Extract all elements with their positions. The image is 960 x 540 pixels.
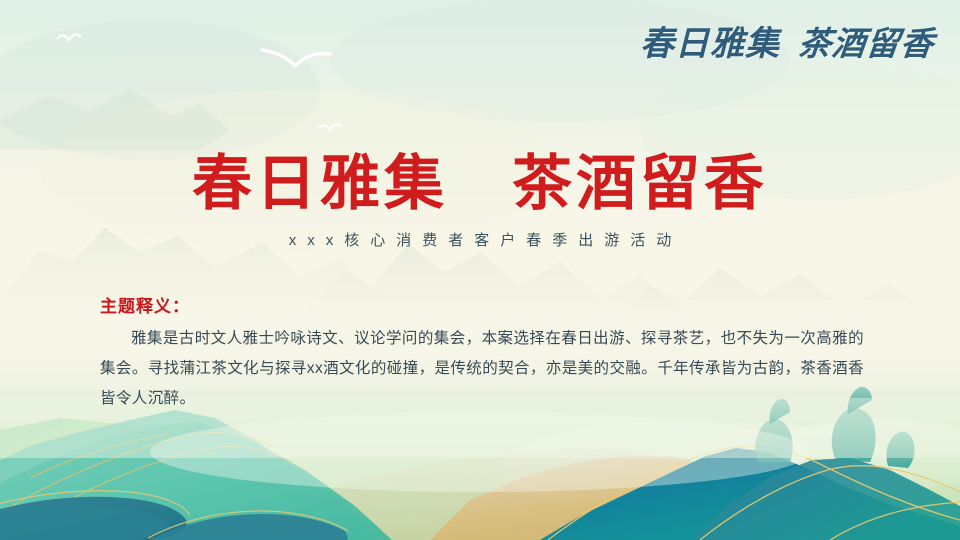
subtitle: xxx核心消费者客户春季出游活动 (0, 229, 960, 250)
logo-text-primary: 春日雅集 (640, 28, 780, 62)
theme-heading: 主题释义： (100, 292, 864, 317)
title-block: 春日雅集 茶酒留香 xxx核心消费者客户春季出游活动 (0, 152, 960, 250)
bird-icon-3 (318, 125, 341, 130)
gold-contour-lines-right (548, 446, 960, 540)
bird-flock (58, 35, 341, 130)
gold-contour-lines-left (0, 433, 292, 540)
background-artwork (0, 0, 960, 540)
main-title: 春日雅集 茶酒留香 (0, 152, 960, 217)
cover-slide: 春日雅集 茶酒留香 春日雅集 茶酒留香 xxx核心消费者客户春季出游活动 主题释… (0, 0, 960, 540)
theme-explanation-block: 主题释义： 雅集是古时文人雅士吟咏诗文、议论学问的集会，本案选择在春日出游、探寻… (100, 292, 864, 415)
logo-text-secondary: 茶酒留香 (796, 29, 935, 62)
bird-icon-2 (262, 50, 330, 66)
brand-logo: 春日雅集 茶酒留香 (640, 28, 934, 62)
sky-wash (0, 0, 960, 520)
theme-body-text: 雅集是古时文人雅士吟咏诗文、议论学问的集会，本案选择在春日出游、探寻茶艺，也不失… (100, 324, 864, 415)
bird-icon-1 (58, 35, 80, 40)
